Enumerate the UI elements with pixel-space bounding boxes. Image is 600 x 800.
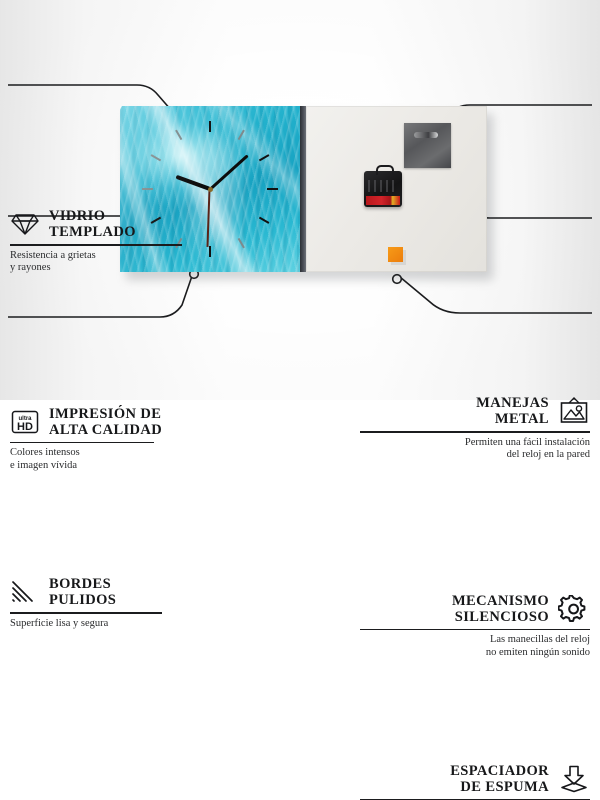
hanger-slot: [414, 132, 438, 138]
clock-tick: [259, 217, 270, 224]
callout-title: BORDES PULIDOS: [49, 576, 116, 608]
framed-picture-hanger-icon: [558, 397, 590, 425]
mechanism-label-strip: [366, 196, 400, 205]
callout-header: ultra HD IMPRESIÓN DE ALTA CALIDAD: [10, 406, 240, 438]
callout-desc-line-1: Superficie lisa y segura: [10, 618, 240, 631]
callout-rule: [360, 431, 590, 433]
callout-title: VIDRIO TEMPLADO: [49, 208, 136, 240]
callout-desc-line-2: y rayones: [10, 262, 240, 275]
foam-spacer: [388, 247, 403, 262]
callout-title: IMPRESIÓN DE ALTA CALIDAD: [49, 406, 162, 438]
clock-tick: [151, 154, 162, 161]
diamond-icon: [10, 211, 40, 237]
callout-impresion-alta-calidad: ultra HD IMPRESIÓN DE ALTA CALIDAD Color…: [10, 406, 240, 473]
metal-hanger-plate: [404, 123, 451, 168]
callout-desc-line-1: Permiten una fácil instalación: [360, 437, 590, 450]
wire-espaciador: [400, 277, 592, 313]
callout-rule: [360, 629, 590, 631]
callout-header: MECANISMO SILENCIOSO: [360, 593, 590, 625]
clock-tick: [238, 130, 245, 141]
clock-minute-hand: [209, 154, 248, 190]
callout-espaciador-espuma: ESPACIADOR DE ESPUMA Permite mantener un…: [360, 763, 590, 800]
clock-hour-hand: [175, 175, 210, 191]
down-arrow-layer-icon: [558, 765, 590, 793]
callout-desc-line-2: e imagen vívida: [10, 460, 240, 473]
callout-vidrio-templado: VIDRIO TEMPLADO Resistencia a grietas y …: [10, 208, 240, 275]
callout-manejas-metal: MANEJAS METAL Permiten una fácil instala…: [360, 395, 590, 462]
callout-header: VIDRIO TEMPLADO: [10, 208, 240, 240]
wire-bordes: [8, 276, 192, 317]
callout-rule: [10, 442, 154, 444]
callout-bordes-pulidos: BORDES PULIDOS Superficie lisa y segura: [10, 576, 240, 630]
clock-tick: [267, 188, 278, 190]
mechanism-hook: [376, 165, 394, 175]
callout-title: MECANISMO SILENCIOSO: [360, 593, 549, 625]
ultra-hd-icon: ultra HD: [10, 409, 40, 435]
callout-header: ESPACIADOR DE ESPUMA: [360, 763, 590, 795]
callout-desc-line-1: Resistencia a grietas: [10, 250, 240, 263]
clock-tick: [175, 130, 182, 141]
callout-title: ESPACIADOR DE ESPUMA: [360, 763, 549, 795]
callout-mecanismo-silencioso: MECANISMO SILENCIOSO Las manecillas del …: [360, 593, 590, 660]
callout-desc-line-1: Las manecillas del reloj: [360, 634, 590, 647]
callout-rule: [360, 799, 590, 800]
diagonal-lines-icon: [10, 579, 40, 605]
callout-rule: [10, 612, 162, 614]
callout-desc-line-2: no emiten ningún sonido: [360, 647, 590, 660]
clock-tick: [142, 188, 153, 190]
callout-header: BORDES PULIDOS: [10, 576, 240, 608]
gear-icon: [558, 595, 590, 623]
callout-desc-line-1: Colores intensos: [10, 447, 240, 460]
callout-rule: [10, 244, 182, 246]
clock-mechanism: [364, 171, 402, 207]
clock-center-pin: [208, 187, 213, 192]
infographic-canvas: VIDRIO TEMPLADO Resistencia a grietas y …: [0, 0, 600, 400]
clock-tick: [209, 121, 211, 132]
ultra-hd-icon-large-text: HD: [17, 421, 33, 433]
callout-desc-line-2: del reloj en la pared: [360, 449, 590, 462]
clock-back-panel: [306, 106, 487, 272]
mechanism-detail: [368, 180, 394, 192]
clock-tick: [259, 154, 270, 161]
